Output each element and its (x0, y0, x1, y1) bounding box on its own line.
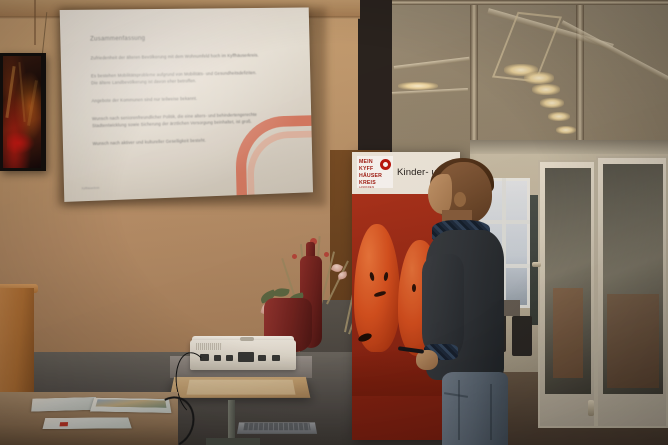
stem-3 (320, 251, 335, 304)
laptop-keyboard[interactable] (243, 423, 310, 430)
ceiling-light-6 (556, 126, 576, 134)
blob-eye-left (369, 272, 375, 282)
projector-vent (196, 343, 222, 350)
logo-line-kyff: KYFF (359, 166, 373, 172)
paint-streak-1 (5, 66, 15, 118)
ceiling-light-2 (524, 72, 554, 84)
door-left-glass (545, 168, 591, 394)
remote-clicker[interactable] (398, 346, 424, 354)
paint-red-pool (7, 132, 35, 154)
person-jeans (442, 372, 508, 445)
projection-screen: Zusammenfassung Zufriedenheit der ältere… (60, 7, 313, 201)
ceiling-light-5 (548, 112, 570, 121)
logo-line-haeuser: HÄUSER (359, 173, 382, 179)
slide-title: Zusammenfassung (90, 35, 145, 43)
slide-line-4: Angebote der Kommunen sind nur teilweise… (92, 94, 284, 105)
projector-stand-foot (206, 438, 260, 445)
door-left-reflection (553, 288, 583, 378)
wall-seam (34, 0, 36, 45)
jeans-seam-2 (490, 384, 492, 440)
projector-port-usb[interactable] (214, 355, 221, 361)
brochure-3[interactable] (42, 417, 131, 429)
projector-port-vga[interactable] (238, 352, 254, 362)
door-right-glass (603, 164, 663, 394)
flower-bud-3 (292, 254, 297, 259)
door-right-leaf[interactable] (596, 156, 668, 428)
projector-port-audio[interactable] (226, 355, 233, 361)
brochure-3-logo-icon (60, 422, 69, 426)
door-left-handle[interactable] (588, 400, 594, 416)
blob-mascot-1 (354, 224, 400, 352)
abstract-painting (3, 56, 41, 168)
ceiling-light-4 (540, 98, 564, 108)
ceiling-light-3 (532, 84, 560, 95)
blob-arm-left (357, 332, 373, 343)
door-latch[interactable] (532, 262, 541, 267)
projector-lens-housing (240, 337, 254, 341)
petal-top-2 (337, 271, 347, 279)
paint-streak-2 (18, 62, 25, 122)
presenter-person (398, 158, 526, 445)
projector-port-hdmi[interactable] (258, 355, 266, 361)
blob-eye-right (383, 272, 389, 282)
person-ear (454, 192, 466, 207)
person-arm (422, 254, 464, 358)
slide-footer: Kyffhäuserkreis (82, 187, 100, 191)
blob-mouth (374, 290, 387, 297)
logo-subline: LANDKREIS (359, 186, 374, 189)
ceiling-light-7 (398, 82, 438, 90)
person-face-profile (428, 174, 452, 214)
kyffhaeuser-logo: MEIN KYFF HÄUSER KREIS LANDKREIS (357, 156, 393, 188)
wooden-podium (0, 288, 34, 400)
door-left-leaf[interactable] (538, 160, 596, 428)
door-right-reflection (607, 294, 659, 388)
mullion-horizontal-top (392, 0, 668, 5)
artwork-frame (0, 53, 46, 171)
paint-streak-3 (27, 80, 38, 126)
logo-line-mein: MEIN (359, 159, 373, 165)
projector-port-lan[interactable] (272, 355, 280, 361)
leaf-2 (273, 287, 289, 298)
flower-bud-2 (324, 252, 329, 257)
slide-line-1: Zufriedenheit der älteren Bevölkerung mi… (90, 52, 291, 62)
jeans-seam-1 (458, 380, 460, 440)
door-header-beam (470, 140, 668, 154)
photograph-scene: Zusammenfassung Zufriedenheit der ältere… (0, 0, 668, 445)
logo-o-mark-icon (380, 159, 391, 170)
